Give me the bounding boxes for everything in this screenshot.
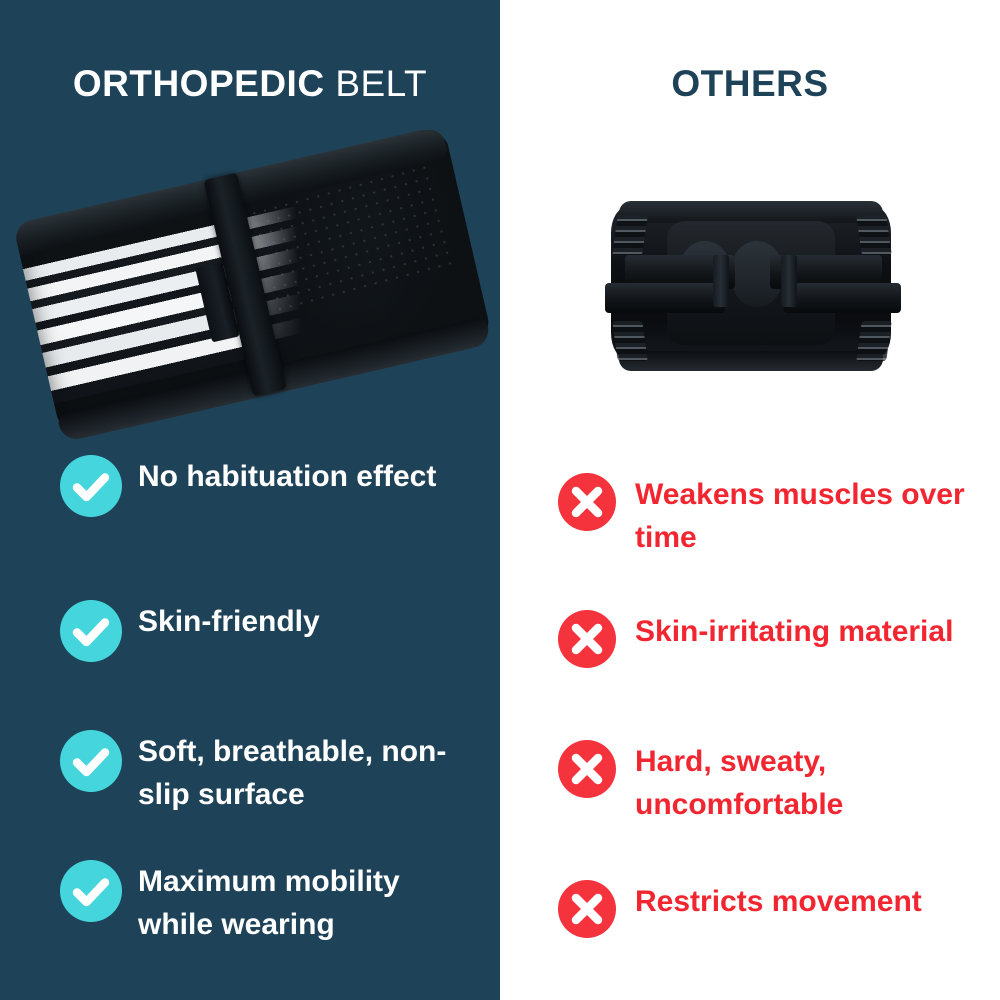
orthopedic-belt-image xyxy=(0,130,500,440)
brace-top-band xyxy=(619,201,883,223)
cons-item-label: Weakens muscles over time xyxy=(635,473,975,559)
cross-circle-icon xyxy=(558,610,616,668)
pros-item-label: Soft, breathable, non-slip surface xyxy=(138,730,468,816)
brace-graphic xyxy=(605,197,897,373)
brace-side-stay xyxy=(856,215,892,255)
belt-graphic xyxy=(14,131,490,435)
check-circle-icon xyxy=(60,455,122,517)
others-brace-image xyxy=(500,175,1000,405)
comparison-infographic: ORTHOPEDIC BELT No habituation effect xyxy=(0,0,1000,1000)
brace-strap xyxy=(783,283,901,313)
left-title-strong: ORTHOPEDIC xyxy=(73,63,325,104)
cons-item-label: Restricts movement xyxy=(635,880,922,923)
pros-item-label: Maximum mobility while wearing xyxy=(138,860,468,946)
brace-strap xyxy=(605,283,725,313)
check-circle-icon xyxy=(60,600,122,662)
cons-list-item: Weakens muscles over time xyxy=(558,473,988,559)
left-title-light: BELT xyxy=(325,63,428,104)
brace-velcro-tab xyxy=(713,255,729,307)
brace-velcro-tab xyxy=(781,255,797,307)
brace-side-stay xyxy=(856,321,892,361)
pros-list-item: Skin-friendly xyxy=(60,600,480,662)
brace-side-stay xyxy=(612,321,648,361)
pros-list-item: Maximum mobility while wearing xyxy=(60,860,480,946)
check-circle-icon xyxy=(60,860,122,922)
pros-item-label: Skin-friendly xyxy=(138,600,320,643)
cross-circle-icon xyxy=(558,473,616,531)
cons-list-item: Restricts movement xyxy=(558,880,988,938)
pros-item-label: No habituation effect xyxy=(138,455,436,498)
cross-circle-icon xyxy=(558,740,616,798)
cons-item-label: Skin-irritating material xyxy=(635,610,953,653)
cons-list-item: Hard, sweaty, uncomfortable xyxy=(558,740,988,826)
cross-circle-icon xyxy=(558,880,616,938)
right-panel-title: OTHERS xyxy=(500,62,1000,106)
cons-item-label: Hard, sweaty, uncomfortable xyxy=(635,740,975,826)
pros-list-item: No habituation effect xyxy=(60,455,480,517)
left-panel-title: ORTHOPEDIC BELT xyxy=(0,62,500,106)
check-circle-icon xyxy=(60,730,122,792)
brace-bottom-band xyxy=(619,351,883,371)
pros-list-item: Soft, breathable, non-slip surface xyxy=(60,730,480,816)
brace-side-stay xyxy=(612,215,648,255)
cons-list-item: Skin-irritating material xyxy=(558,610,988,668)
